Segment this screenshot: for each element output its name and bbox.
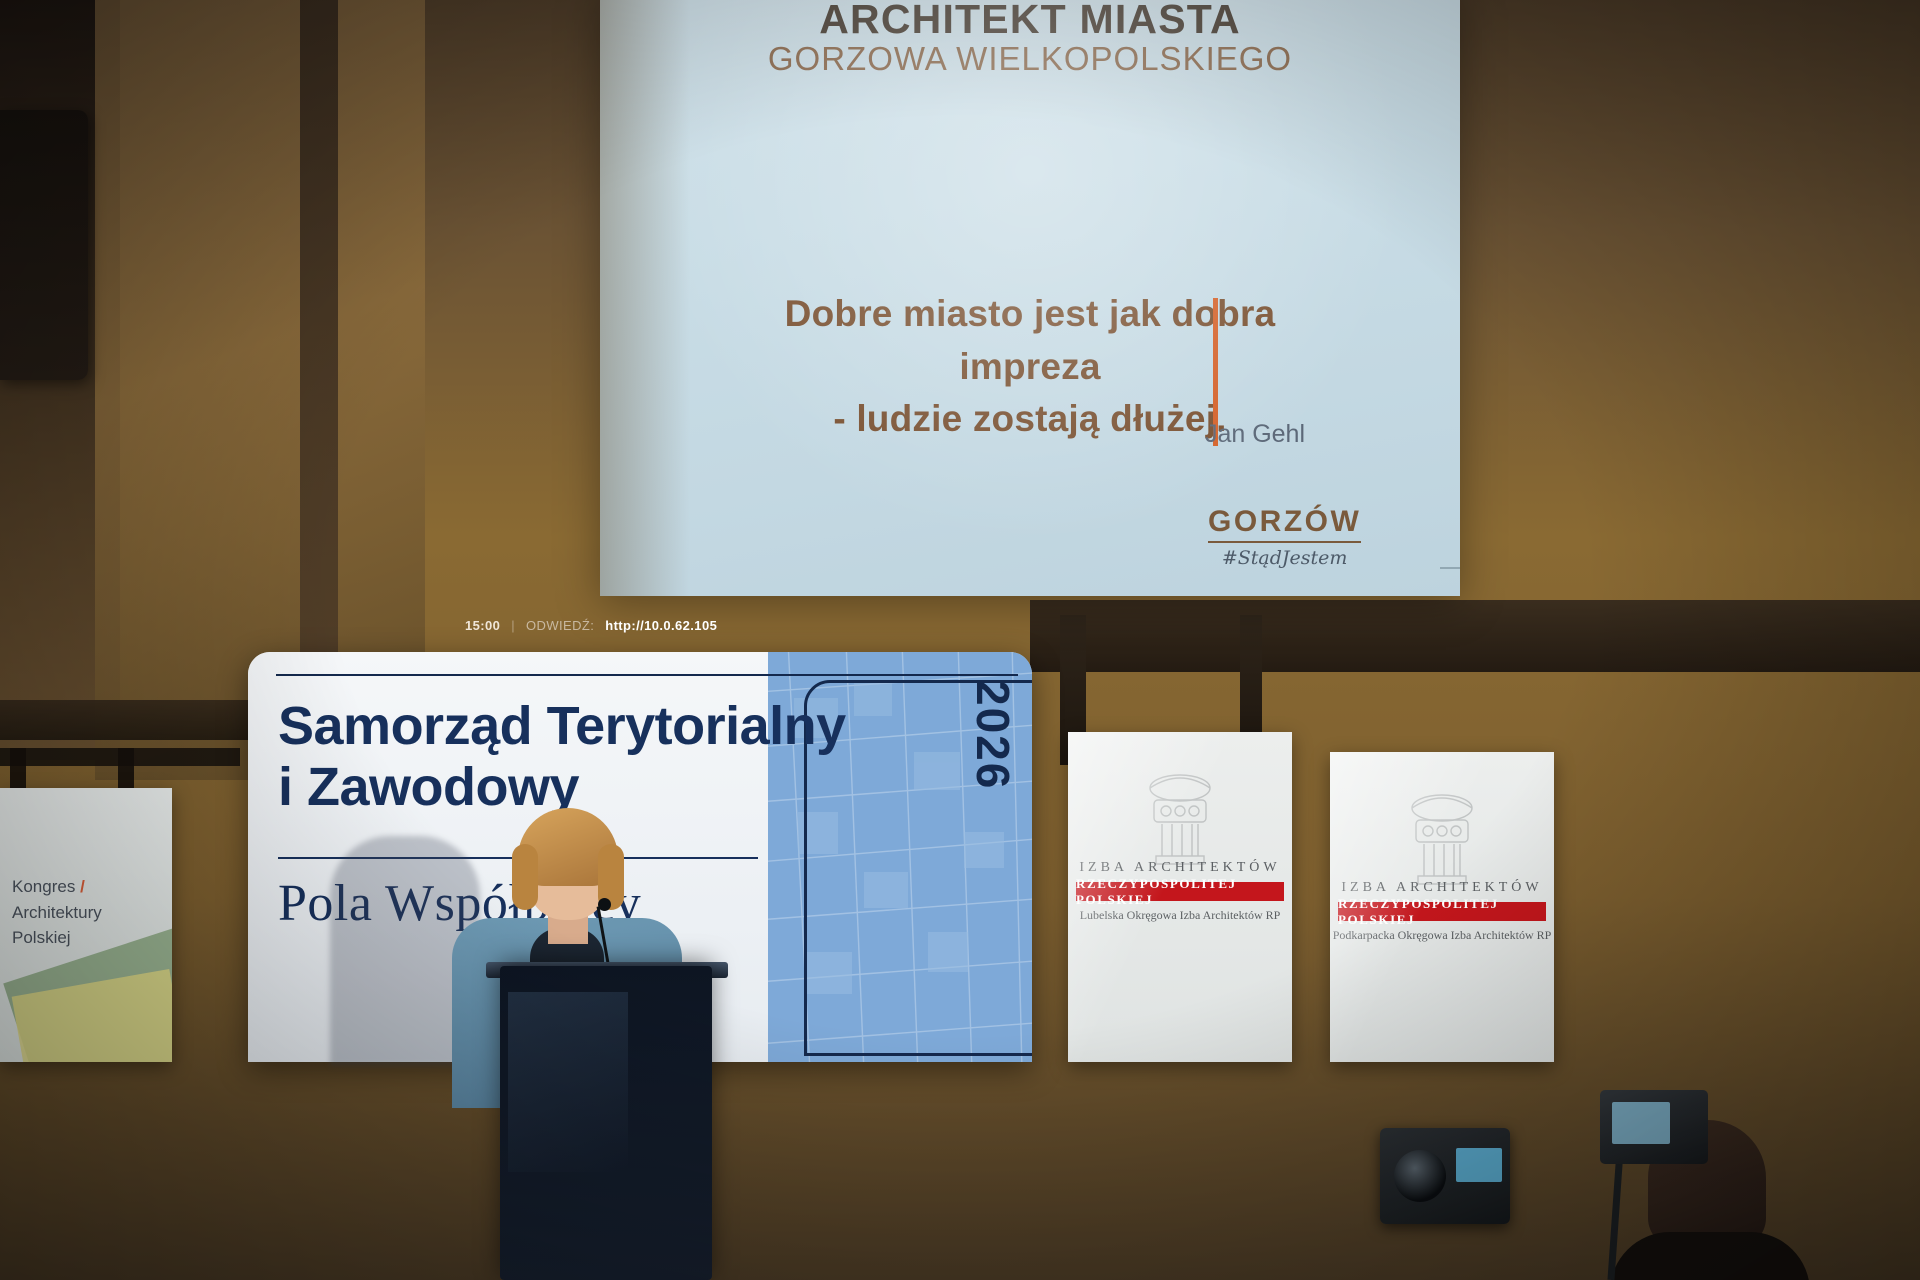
slide-title: ARCHITEKT MIASTA <box>600 0 1460 43</box>
camera-lens-icon <box>1394 1150 1446 1202</box>
status-label: ODWIEDŹ: <box>526 618 594 633</box>
camera-screen-2 <box>1612 1102 1670 1144</box>
izba-architektow-banner-2: IZBA ARCHITEKTÓW RZECZYPOSPOLITEJ POLSKI… <box>1330 752 1554 1062</box>
operator-body <box>1610 1232 1810 1280</box>
banner-heading-line-1: Samorząd Terytorialny <box>278 696 898 757</box>
kongres-rollup-banner: Kongres / Architektury Polskiej <box>0 788 172 1062</box>
banner-year: 2026 <box>966 680 1020 790</box>
conference-photo-scene: ARCHITEKT MIASTA GORZOWA WIELKOPOLSKIEGO… <box>0 0 1920 1280</box>
quote-line-2: - ludzie zostają dłużej. <box>600 393 1460 446</box>
camera-screen <box>1456 1148 1502 1182</box>
wall-column <box>300 0 338 700</box>
quote-line-1: Dobre miasto jest jak dobra impreza <box>600 288 1460 393</box>
slide-subtitle: GORZOWA WIELKOPOLSKIEGO <box>600 40 1460 78</box>
gorzow-logo-tagline: #StądJestem <box>1208 547 1361 569</box>
video-camera-front <box>1380 1128 1510 1224</box>
kongres-slash-1: / <box>80 877 85 896</box>
video-camera-back <box>1600 1090 1708 1164</box>
ceiling-loudspeaker <box>0 110 88 380</box>
banner-glare-1 <box>1068 732 1292 1062</box>
projection-screen: ARCHITEKT MIASTA GORZOWA WIELKOPOLSKIEGO… <box>600 0 1460 596</box>
quote-author: Jan Gehl <box>1205 420 1305 449</box>
kongres-line-1: Kongres <box>12 877 75 896</box>
status-separator: | <box>511 618 515 633</box>
city-skyline-illustration <box>1440 462 1460 572</box>
kongres-logo-text: Kongres / Architektury Polskiej <box>12 874 102 951</box>
wooden-beam-horizontal <box>1030 600 1920 672</box>
podium-reflection <box>508 992 628 1172</box>
gorzow-logo-name: GORZÓW <box>1208 505 1361 543</box>
slide-quote-block: Dobre miasto jest jak dobra impreza - lu… <box>600 288 1460 446</box>
gorzow-logo: GORZÓW #StądJestem <box>1208 505 1361 569</box>
status-bar: 15:00 | ODWIEDŹ: http://10.0.62.105 <box>465 618 717 633</box>
izba-architektow-banner-1: IZBA ARCHITEKTÓW RZECZYPOSPOLITEJ POLSKI… <box>1068 732 1292 1062</box>
status-time: 15:00 <box>465 618 500 633</box>
speaker-hair-left <box>512 844 538 910</box>
kongres-line-3: Polskiej <box>12 928 71 947</box>
status-url: http://10.0.62.105 <box>605 618 717 633</box>
microphone-head-icon <box>598 898 611 911</box>
screen-edge-shadow <box>600 0 690 596</box>
banner-top-rule <box>276 674 1018 676</box>
banner-heading: Samorząd Terytorialny i Zawodowy <box>278 696 898 818</box>
banner-glare-2 <box>1330 752 1554 1062</box>
kongres-line-2: Architektury <box>12 903 102 922</box>
